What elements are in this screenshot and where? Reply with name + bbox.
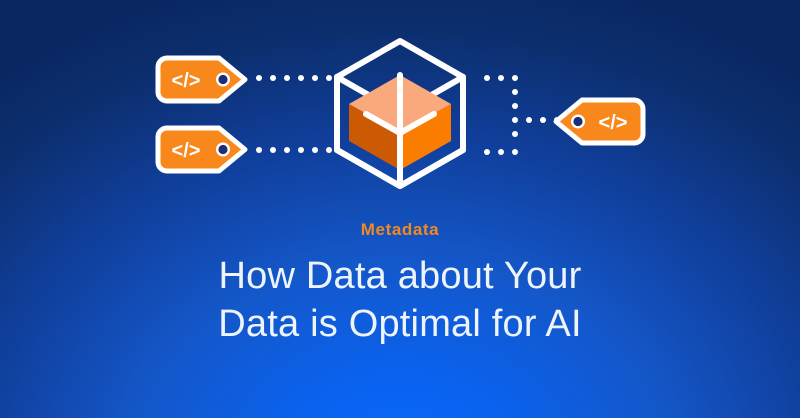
tag-left-bottom: </> — [158, 128, 245, 171]
connector-right-vertical — [512, 89, 518, 137]
tag-right-code: </> — [599, 112, 628, 134]
metadata-cube-diagram: </> </> </> — [0, 0, 800, 205]
tag-left-top-code: </> — [172, 70, 201, 92]
connector-right-top — [484, 75, 518, 81]
tag-left-bottom-hole — [218, 145, 227, 154]
page-title: How Data about Your Data is Optimal for … — [0, 252, 800, 348]
connector-right-bottom — [484, 149, 518, 155]
tag-left-top: </> — [158, 58, 245, 101]
headline-line-1: How Data about Your — [0, 252, 800, 300]
text-block: Metadata How Data about Your Data is Opt… — [0, 218, 800, 348]
tag-left-bottom-code: </> — [172, 140, 201, 162]
connector-left-top — [256, 75, 332, 81]
tag-left-top-hole — [218, 75, 227, 84]
illustration-area: </> </> </> — [0, 0, 800, 205]
headline-line-2: Data is Optimal for AI — [0, 300, 800, 348]
eyebrow-label: Metadata — [0, 218, 800, 242]
connector-left-bottom — [256, 147, 332, 153]
tag-right: </> — [556, 100, 643, 143]
tag-right-hole — [573, 117, 582, 126]
metadata-banner: </> </> </> Metadata How Data abo — [0, 0, 800, 418]
